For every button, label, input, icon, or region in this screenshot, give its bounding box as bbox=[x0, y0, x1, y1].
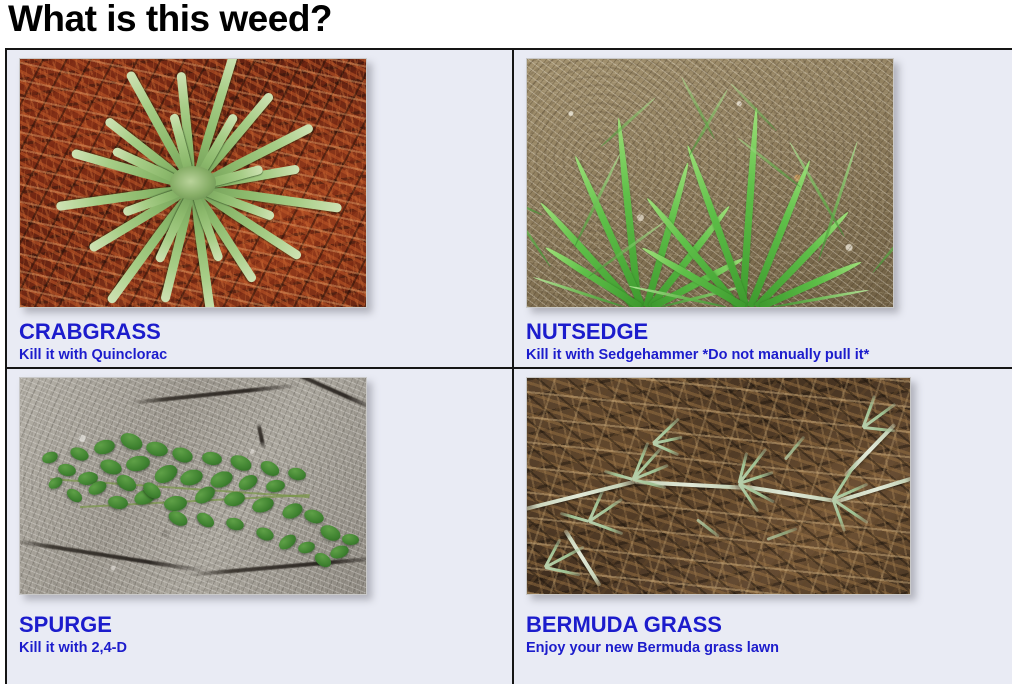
weed-name-nutsedge: NUTSEDGE bbox=[526, 320, 1012, 343]
page-title: What is this weed? bbox=[8, 0, 332, 40]
spurge-photo bbox=[19, 377, 367, 595]
weed-treatment-bermuda-grass: Enjoy your new Bermuda grass lawn bbox=[526, 640, 1012, 657]
weed-cell-nutsedge[interactable]: NUTSEDGE Kill it with Sedgehammer *Do no… bbox=[512, 50, 1012, 367]
weed-cell-crabgrass[interactable]: CRABGRASS Kill it with Quinclorac bbox=[7, 50, 512, 367]
weed-name-bermuda-grass: BERMUDA GRASS bbox=[526, 613, 1012, 636]
weed-identification-table: CRABGRASS Kill it with Quinclorac bbox=[5, 48, 1012, 684]
weed-cell-spurge[interactable]: SPURGE Kill it with 2,4-D bbox=[7, 367, 512, 684]
weed-treatment-nutsedge: Kill it with Sedgehammer *Do not manuall… bbox=[526, 347, 1012, 364]
bermuda-grass-caption: BERMUDA GRASS Enjoy your new Bermuda gra… bbox=[526, 613, 1012, 657]
weed-treatment-spurge: Kill it with 2,4-D bbox=[19, 640, 512, 657]
weed-name-crabgrass: CRABGRASS bbox=[19, 320, 512, 343]
nutsedge-caption: NUTSEDGE Kill it with Sedgehammer *Do no… bbox=[526, 320, 1012, 364]
weed-cell-bermuda-grass[interactable]: BERMUDA GRASS Enjoy your new Bermuda gra… bbox=[512, 367, 1012, 684]
spurge-caption: SPURGE Kill it with 2,4-D bbox=[19, 613, 512, 657]
nutsedge-photo bbox=[526, 58, 894, 308]
crabgrass-photo bbox=[19, 58, 367, 308]
bermuda-grass-photo bbox=[526, 377, 911, 595]
weed-treatment-crabgrass: Kill it with Quinclorac bbox=[19, 347, 512, 364]
crabgrass-caption: CRABGRASS Kill it with Quinclorac bbox=[19, 320, 512, 364]
weed-name-spurge: SPURGE bbox=[19, 613, 512, 636]
